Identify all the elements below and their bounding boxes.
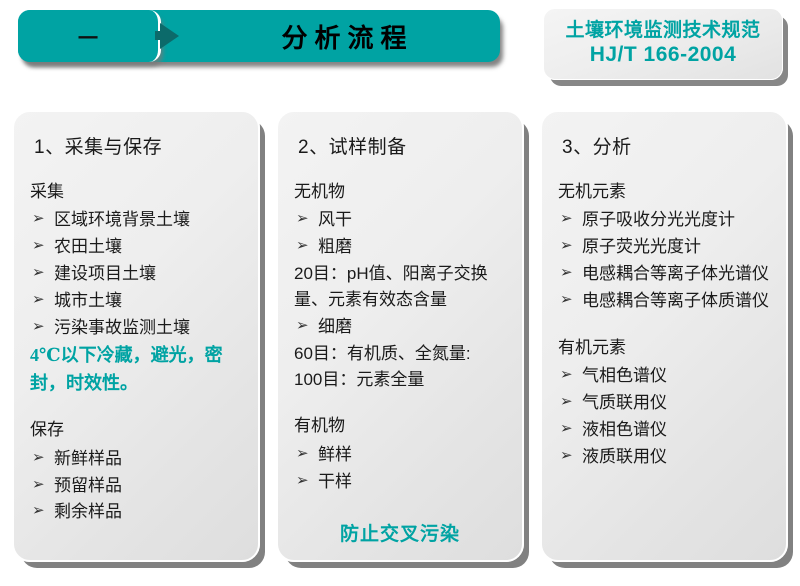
list-item: ➢液相色谱仪 <box>556 417 776 444</box>
flow-card-collection: 1、采集与保存 采集➢区域环境背景土壤➢农田土壤➢建设项目土壤➢城市土壤➢污染事… <box>12 110 260 562</box>
group-heading: 保存 <box>30 417 248 443</box>
bullet-arrow-icon: ➢ <box>296 234 309 258</box>
list-item: ➢电感耦合等离子体光谱仪 <box>556 261 776 288</box>
list-item-label: 预留样品 <box>54 476 122 495</box>
spacer <box>28 397 248 417</box>
bullet-arrow-icon: ➢ <box>32 207 45 231</box>
group-heading: 无机元素 <box>558 179 776 205</box>
list-item-label: 新鲜样品 <box>54 449 122 468</box>
group-heading: 无机物 <box>294 179 512 205</box>
list-item: ➢原子吸收分光光度计 <box>556 207 776 234</box>
analysis-flow-banner: 分析流程 一 <box>18 10 500 62</box>
group-heading: 有机元素 <box>558 335 776 361</box>
list-item-label: 建设项目土壤 <box>54 264 156 283</box>
group-heading: 采集 <box>30 179 248 205</box>
bullet-arrow-icon: ➢ <box>560 390 573 414</box>
list-item: ➢原子荧光光度计 <box>556 234 776 261</box>
bullet-arrow-icon: ➢ <box>32 499 45 523</box>
card-title: 1、采集与保存 <box>34 132 248 159</box>
header-banner: 分析流程 一 土壤环境监测技术规范 HJ/T 166-2004 <box>0 0 800 96</box>
list-item-label: 气质联用仪 <box>582 393 667 412</box>
list-item: ➢污染事故监测土壤 <box>28 315 248 342</box>
list-item: ➢区域环境背景土壤 <box>28 207 248 234</box>
list-item: ➢液质联用仪 <box>556 444 776 471</box>
list-item: ➢细磨 <box>292 314 512 341</box>
bullet-arrow-icon: ➢ <box>32 234 45 258</box>
card-footer-note: 防止交叉污染 <box>278 519 522 546</box>
bullet-arrow-icon: ➢ <box>560 417 573 441</box>
list-item: ➢鲜样 <box>292 442 512 469</box>
standard-badge-title: 土壤环境监测技术规范 <box>565 20 760 42</box>
list-item: ➢剩余样品 <box>28 499 248 526</box>
list-item: ➢农田土壤 <box>28 234 248 261</box>
right-arrow-icon <box>160 23 179 49</box>
detail-line: 60目：有机质、全氮量: <box>294 341 512 367</box>
list-item-label: 粗磨 <box>318 237 352 256</box>
list-item-label: 区域环境背景土壤 <box>54 210 190 229</box>
bullet-arrow-icon: ➢ <box>32 261 45 285</box>
list-item: ➢新鲜样品 <box>28 446 248 473</box>
list-item: ➢粗磨 <box>292 234 512 261</box>
card-title: 3、分析 <box>562 132 776 159</box>
list-item-label: 污染事故监测土壤 <box>54 318 190 337</box>
bullet-arrow-icon: ➢ <box>32 473 45 497</box>
list-item: ➢预留样品 <box>28 473 248 500</box>
bullet-arrow-icon: ➢ <box>32 446 45 470</box>
list-item-label: 剩余样品 <box>54 502 122 521</box>
card-title: 2、试样制备 <box>298 132 512 159</box>
bullet-list: ➢细磨 <box>292 314 512 341</box>
list-item: ➢建设项目土壤 <box>28 261 248 288</box>
list-item: ➢风干 <box>292 207 512 234</box>
bullet-arrow-icon: ➢ <box>296 442 309 466</box>
bullet-arrow-icon: ➢ <box>560 234 573 258</box>
bullet-list: ➢原子吸收分光光度计➢原子荧光光度计➢电感耦合等离子体光谱仪➢电感耦合等离子体质… <box>556 207 776 314</box>
list-item-label: 干样 <box>318 472 352 491</box>
bullet-list: ➢区域环境背景土壤➢农田土壤➢建设项目土壤➢城市土壤➢污染事故监测土壤 <box>28 207 248 341</box>
standard-badge-code: HJ/T 166-2004 <box>590 43 737 68</box>
card-body: 无机元素➢原子吸收分光光度计➢原子荧光光度计➢电感耦合等离子体光谱仪➢电感耦合等… <box>556 179 776 471</box>
flow-card-analysis: 3、分析 无机元素➢原子吸收分光光度计➢原子荧光光度计➢电感耦合等离子体光谱仪➢… <box>540 110 788 562</box>
flow-card-sample-prep: 2、试样制备 无机物➢风干➢粗磨20目：pH值、阳离子交换量、元素有效态含量➢细… <box>276 110 524 562</box>
section-number-label: 一 <box>78 22 98 51</box>
list-item: ➢城市土壤 <box>28 288 248 315</box>
list-item-label: 风干 <box>318 210 352 229</box>
list-item-label: 原子吸收分光光度计 <box>582 210 735 229</box>
bullet-arrow-icon: ➢ <box>560 261 573 285</box>
section-number-chip: 一 <box>18 10 161 62</box>
list-item-label: 农田土壤 <box>54 237 122 256</box>
bullet-list: ➢新鲜样品➢预留样品➢剩余样品 <box>28 446 248 527</box>
list-item: ➢气相色谱仪 <box>556 363 776 390</box>
bullet-arrow-icon: ➢ <box>296 314 309 338</box>
list-item-label: 鲜样 <box>318 445 352 464</box>
spacer <box>292 393 512 413</box>
bullet-arrow-icon: ➢ <box>296 469 309 493</box>
flow-columns: 1、采集与保存 采集➢区域环境背景土壤➢农田土壤➢建设项目土壤➢城市土壤➢污染事… <box>0 96 800 586</box>
list-item-label: 液相色谱仪 <box>582 420 667 439</box>
bullet-arrow-icon: ➢ <box>560 288 573 312</box>
bullet-arrow-icon: ➢ <box>32 288 45 312</box>
list-item: ➢电感耦合等离子体质谱仪 <box>556 288 776 315</box>
list-item-label: 液质联用仪 <box>582 447 667 466</box>
bullet-list: ➢鲜样➢干样 <box>292 442 512 496</box>
highlight-note: 4℃以下冷藏，避光，密封，时效性。 <box>30 342 248 398</box>
bullet-arrow-icon: ➢ <box>560 207 573 231</box>
list-item-label: 电感耦合等离子体质谱仪 <box>582 291 769 310</box>
bullet-list: ➢风干➢粗磨 <box>292 207 512 261</box>
page-title: 分析流程 <box>188 10 500 62</box>
bullet-arrow-icon: ➢ <box>560 444 573 468</box>
detail-line: 20目：pH值、阳离子交换量、元素有效态含量 <box>294 261 512 314</box>
bullet-arrow-icon: ➢ <box>296 207 309 231</box>
bullet-list: ➢气相色谱仪➢气质联用仪➢液相色谱仪➢液质联用仪 <box>556 363 776 470</box>
detail-line: 100目：元素全量 <box>294 367 512 393</box>
card-body: 无机物➢风干➢粗磨20目：pH值、阳离子交换量、元素有效态含量➢细磨60目：有机… <box>292 179 512 495</box>
list-item-label: 细磨 <box>318 317 352 336</box>
list-item-label: 电感耦合等离子体光谱仪 <box>582 264 769 283</box>
group-heading: 有机物 <box>294 413 512 439</box>
card-body: 采集➢区域环境背景土壤➢农田土壤➢建设项目土壤➢城市土壤➢污染事故监测土壤4℃以… <box>28 179 248 526</box>
list-item-label: 原子荧光光度计 <box>582 237 701 256</box>
list-item: ➢气质联用仪 <box>556 390 776 417</box>
standard-badge: 土壤环境监测技术规范 HJ/T 166-2004 <box>543 8 783 80</box>
list-item-label: 城市土壤 <box>54 291 122 310</box>
bullet-arrow-icon: ➢ <box>32 315 45 339</box>
list-item-label: 气相色谱仪 <box>582 366 667 385</box>
bullet-arrow-icon: ➢ <box>560 363 573 387</box>
list-item: ➢干样 <box>292 469 512 496</box>
spacer <box>556 315 776 335</box>
